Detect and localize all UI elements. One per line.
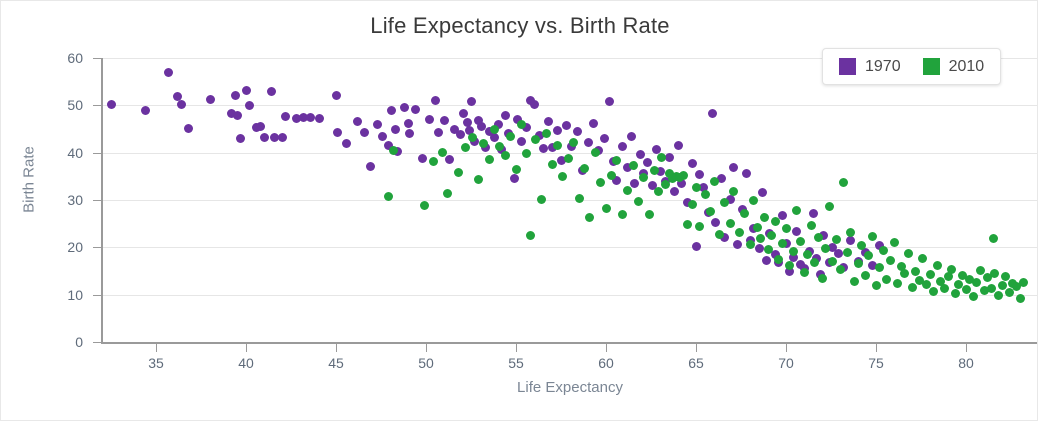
legend-item-1970[interactable]: 1970 <box>839 58 901 76</box>
scatter-point[interactable] <box>792 206 801 215</box>
scatter-point[interactable] <box>501 111 510 120</box>
scatter-point[interactable] <box>882 275 891 284</box>
scatter-point[interactable] <box>459 109 468 118</box>
scatter-point[interactable] <box>879 246 888 255</box>
y-tick-mark <box>93 105 101 106</box>
scatter-point[interactable] <box>1019 278 1028 287</box>
y-tick-label: 10 <box>21 287 83 303</box>
scatter-point[interactable] <box>267 87 276 96</box>
scatter-point[interactable] <box>206 95 215 104</box>
scatter-point[interactable] <box>854 259 863 268</box>
x-tick-mark <box>966 344 967 352</box>
scatter-point[interactable] <box>836 265 845 274</box>
scatter-point[interactable] <box>918 254 927 263</box>
scatter-point[interactable] <box>512 165 521 174</box>
scatter-point[interactable] <box>517 137 526 146</box>
scatter-point[interactable] <box>650 166 659 175</box>
scatter-point[interactable] <box>164 68 173 77</box>
scatter-point[interactable] <box>998 281 1007 290</box>
scatter-point[interactable] <box>591 148 600 157</box>
x-tick-mark <box>876 344 877 352</box>
x-tick-mark <box>156 344 157 352</box>
scatter-point[interactable] <box>558 172 567 181</box>
x-tick-mark <box>516 344 517 352</box>
scatter-point[interactable] <box>872 281 881 290</box>
scatter-point[interactable] <box>893 279 902 288</box>
scatter-point[interactable] <box>670 187 679 196</box>
scatter-point[interactable] <box>479 139 488 148</box>
scatter-point[interactable] <box>618 210 627 219</box>
scatter-point[interactable] <box>657 153 666 162</box>
scatter-point[interactable] <box>461 143 470 152</box>
scatter-point[interactable] <box>746 240 755 249</box>
scatter-point[interactable] <box>643 158 652 167</box>
scatter-point[interactable] <box>908 283 917 292</box>
scatter-point[interactable] <box>720 198 729 207</box>
scatter-point[interactable] <box>490 133 499 142</box>
scatter-point[interactable] <box>911 267 920 276</box>
x-tick-mark <box>606 344 607 352</box>
y-tick-mark <box>93 342 101 343</box>
scatter-point[interactable] <box>857 241 866 250</box>
scatter-chart-card: Life Expectancy vs. Birth Rate Birth Rat… <box>0 0 1038 421</box>
scatter-point[interactable] <box>612 156 621 165</box>
scatter-point[interactable] <box>729 187 738 196</box>
scatter-point[interactable] <box>679 171 688 180</box>
scatter-point[interactable] <box>762 256 771 265</box>
scatter-point[interactable] <box>969 292 978 301</box>
scatter-point[interactable] <box>510 174 519 183</box>
scatter-point[interactable] <box>767 231 776 240</box>
scatter-point[interactable] <box>756 234 765 243</box>
scatter-point[interactable] <box>1016 294 1025 303</box>
scatter-point[interactable] <box>890 238 899 247</box>
x-tick-label: 80 <box>936 355 996 371</box>
plot-area[interactable] <box>102 58 1038 342</box>
scatter-point[interactable] <box>456 130 465 139</box>
y-tick-mark <box>93 58 101 59</box>
scatter-point[interactable] <box>796 237 805 246</box>
x-tick-label: 75 <box>846 355 906 371</box>
scatter-point[interactable] <box>733 240 742 249</box>
scatter-point[interactable] <box>384 192 393 201</box>
scatter-point[interactable] <box>306 113 315 122</box>
scatter-point[interactable] <box>391 125 400 134</box>
scatter-point[interactable] <box>440 116 449 125</box>
legend-label: 2010 <box>949 58 985 76</box>
scatter-point[interactable] <box>596 178 605 187</box>
scatter-point[interactable] <box>627 132 636 141</box>
chart-title: Life Expectancy vs. Birth Rate <box>1 13 1038 39</box>
scatter-point[interactable] <box>810 258 819 267</box>
scatter-point[interactable] <box>987 284 996 293</box>
scatter-point[interactable] <box>645 210 654 219</box>
scatter-point[interactable] <box>630 179 639 188</box>
x-axis-line <box>101 342 1038 344</box>
scatter-point[interactable] <box>584 138 593 147</box>
scatter-point[interactable] <box>605 97 614 106</box>
scatter-point[interactable] <box>729 163 738 172</box>
scatter-point[interactable] <box>333 128 342 137</box>
scatter-point[interactable] <box>256 122 265 131</box>
scatter-point[interactable] <box>809 209 818 218</box>
scatter-point[interactable] <box>411 105 420 114</box>
scatter-point[interactable] <box>940 284 949 293</box>
scatter-point[interactable] <box>868 232 877 241</box>
scatter-point[interactable] <box>454 168 463 177</box>
scatter-point[interactable] <box>553 126 562 135</box>
scatter-point[interactable] <box>726 219 735 228</box>
x-tick-label: 40 <box>216 355 276 371</box>
scatter-point[interactable] <box>353 117 362 126</box>
scatter-point[interactable] <box>843 248 852 257</box>
scatter-point[interactable] <box>821 244 830 253</box>
scatter-point[interactable] <box>573 127 582 136</box>
scatter-point[interactable] <box>531 135 540 144</box>
scatter-point[interactable] <box>760 213 769 222</box>
scatter-point[interactable] <box>875 263 884 272</box>
legend-item-2010[interactable]: 2010 <box>923 58 985 76</box>
scatter-point[interactable] <box>792 227 801 236</box>
scatter-point[interactable] <box>828 257 837 266</box>
scatter-point[interactable] <box>904 249 913 258</box>
chart-legend[interactable]: 19702010 <box>822 48 1001 85</box>
x-axis-title: Life Expectancy <box>102 379 1038 396</box>
scatter-point[interactable] <box>706 207 715 216</box>
scatter-point[interactable] <box>994 291 1003 300</box>
legend-swatch-icon <box>839 58 856 75</box>
scatter-point[interactable] <box>281 112 290 121</box>
scatter-point[interactable] <box>711 218 720 227</box>
scatter-point[interactable] <box>539 144 548 153</box>
x-tick-label: 70 <box>756 355 816 371</box>
x-tick-mark <box>426 344 427 352</box>
scatter-point[interactable] <box>542 129 551 138</box>
y-tick-label: 30 <box>21 192 83 208</box>
scatter-point[interactable] <box>438 148 447 157</box>
x-tick-mark <box>246 344 247 352</box>
scatter-point[interactable] <box>242 86 251 95</box>
scatter-point[interactable] <box>818 274 827 283</box>
scatter-point[interactable] <box>501 151 510 160</box>
scatter-point[interactable] <box>342 139 351 148</box>
scatter-point[interactable] <box>526 231 535 240</box>
scatter-point[interactable] <box>654 187 663 196</box>
scatter-point[interactable] <box>825 202 834 211</box>
legend-label: 1970 <box>865 58 901 76</box>
scatter-point[interactable] <box>972 278 981 287</box>
scatter-point[interactable] <box>141 106 150 115</box>
x-tick-mark <box>696 344 697 352</box>
x-tick-label: 45 <box>306 355 366 371</box>
scatter-point[interactable] <box>177 100 186 109</box>
scatter-point[interactable] <box>618 142 627 151</box>
y-tick-label: 0 <box>21 334 83 350</box>
scatter-point[interactable] <box>332 91 341 100</box>
scatter-point[interactable] <box>378 132 387 141</box>
y-tick-label: 40 <box>21 145 83 161</box>
scatter-point[interactable] <box>753 223 762 232</box>
y-tick-mark <box>93 200 101 201</box>
scatter-point[interactable] <box>445 155 454 164</box>
scatter-point[interactable] <box>688 200 697 209</box>
scatter-point[interactable] <box>692 242 701 251</box>
scatter-point[interactable] <box>490 125 499 134</box>
scatter-point[interactable] <box>564 154 573 163</box>
scatter-point[interactable] <box>623 186 632 195</box>
scatter-point[interactable] <box>553 141 562 150</box>
scatter-point[interactable] <box>735 228 744 237</box>
scatter-point[interactable] <box>740 209 749 218</box>
scatter-point[interactable] <box>701 190 710 199</box>
scatter-point[interactable] <box>485 155 494 164</box>
scatter-point[interactable] <box>260 133 269 142</box>
scatter-point[interactable] <box>688 159 697 168</box>
scatter-point[interactable] <box>443 189 452 198</box>
x-tick-label: 65 <box>666 355 726 371</box>
scatter-point[interactable] <box>233 111 242 120</box>
scatter-point[interactable] <box>832 235 841 244</box>
scatter-point[interactable] <box>771 217 780 226</box>
scatter-point[interactable] <box>562 121 571 130</box>
scatter-point[interactable] <box>506 132 515 141</box>
scatter-point[interactable] <box>861 271 870 280</box>
scatter-point[interactable] <box>602 204 611 213</box>
scatter-point[interactable] <box>755 244 764 253</box>
scatter-point[interactable] <box>107 100 116 109</box>
scatter-point[interactable] <box>778 239 787 248</box>
scatter-point[interactable] <box>231 91 240 100</box>
scatter-point[interactable] <box>785 261 794 270</box>
x-tick-label: 35 <box>126 355 186 371</box>
scatter-point[interactable] <box>373 120 382 129</box>
scatter-point[interactable] <box>236 134 245 143</box>
scatter-point[interactable] <box>764 245 773 254</box>
scatter-point[interactable] <box>575 194 584 203</box>
scatter-point[interactable] <box>537 195 546 204</box>
scatter-point[interactable] <box>420 201 429 210</box>
scatter-point[interactable] <box>758 188 767 197</box>
scatter-point[interactable] <box>947 265 956 274</box>
scatter-point[interactable] <box>600 134 609 143</box>
scatter-point[interactable] <box>814 233 823 242</box>
scatter-point[interactable] <box>315 114 324 123</box>
scatter-point[interactable] <box>245 101 254 110</box>
x-tick-label: 60 <box>576 355 636 371</box>
scatter-point[interactable] <box>695 170 704 179</box>
scatter-point[interactable] <box>629 161 638 170</box>
scatter-point[interactable] <box>749 196 758 205</box>
scatter-point[interactable] <box>683 220 692 229</box>
scatter-point[interactable] <box>474 175 483 184</box>
scatter-point[interactable] <box>789 247 798 256</box>
scatter-point[interactable] <box>850 277 859 286</box>
scatter-point[interactable] <box>467 97 476 106</box>
scatter-point[interactable] <box>742 169 751 178</box>
scatter-point[interactable] <box>404 119 413 128</box>
scatter-point[interactable] <box>530 100 539 109</box>
scatter-point[interactable] <box>846 228 855 237</box>
y-tick-label: 20 <box>21 239 83 255</box>
scatter-point[interactable] <box>929 287 938 296</box>
y-tick-mark <box>93 247 101 248</box>
scatter-point[interactable] <box>569 138 578 147</box>
legend-swatch-icon <box>923 58 940 75</box>
scatter-point[interactable] <box>360 128 369 137</box>
scatter-point[interactable] <box>366 162 375 171</box>
scatter-point[interactable] <box>710 177 719 186</box>
scatter-point[interactable] <box>184 124 193 133</box>
scatter-point[interactable] <box>807 221 816 230</box>
y-axis-title: Birth Rate <box>21 110 38 250</box>
scatter-point[interactable] <box>864 251 873 260</box>
scatter-point[interactable] <box>926 270 935 279</box>
scatter-point[interactable] <box>387 106 396 115</box>
scatter-point[interactable] <box>951 289 960 298</box>
scatter-point[interactable] <box>933 261 942 270</box>
scatter-point[interactable] <box>800 268 809 277</box>
scatter-point[interactable] <box>639 173 648 182</box>
scatter-point[interactable] <box>589 119 598 128</box>
scatter-point[interactable] <box>400 103 409 112</box>
scatter-point[interactable] <box>544 117 553 126</box>
scatter-point[interactable] <box>715 230 724 239</box>
scatter-point[interactable] <box>548 160 557 169</box>
scatter-point[interactable] <box>634 197 643 206</box>
scatter-point[interactable] <box>708 109 717 118</box>
scatter-point[interactable] <box>900 269 909 278</box>
scatter-point[interactable] <box>839 178 848 187</box>
scatter-point[interactable] <box>580 164 589 173</box>
scatter-point[interactable] <box>695 222 704 231</box>
x-tick-label: 50 <box>396 355 456 371</box>
y-tick-mark <box>93 295 101 296</box>
scatter-point[interactable] <box>834 249 843 258</box>
scatter-point[interactable] <box>425 115 434 124</box>
scatter-point[interactable] <box>886 256 895 265</box>
scatter-point[interactable] <box>989 234 998 243</box>
scatter-point[interactable] <box>429 157 438 166</box>
y-tick-label: 60 <box>21 50 83 66</box>
scatter-point[interactable] <box>782 224 791 233</box>
scatter-point[interactable] <box>434 128 443 137</box>
y-tick-mark <box>93 153 101 154</box>
scatter-point[interactable] <box>522 149 531 158</box>
scatter-point[interactable] <box>846 236 855 245</box>
scatter-point[interactable] <box>431 96 440 105</box>
scatter-point[interactable] <box>692 183 701 192</box>
x-tick-mark <box>336 344 337 352</box>
scatter-point[interactable] <box>405 129 414 138</box>
x-tick-label: 55 <box>486 355 546 371</box>
x-tick-mark <box>786 344 787 352</box>
scatter-point[interactable] <box>636 150 645 159</box>
scatter-point[interactable] <box>990 269 999 278</box>
scatter-point[interactable] <box>278 133 287 142</box>
scatter-point[interactable] <box>674 141 683 150</box>
scatter-point[interactable] <box>418 154 427 163</box>
scatter-point[interactable] <box>585 213 594 222</box>
y-tick-label: 50 <box>21 97 83 113</box>
